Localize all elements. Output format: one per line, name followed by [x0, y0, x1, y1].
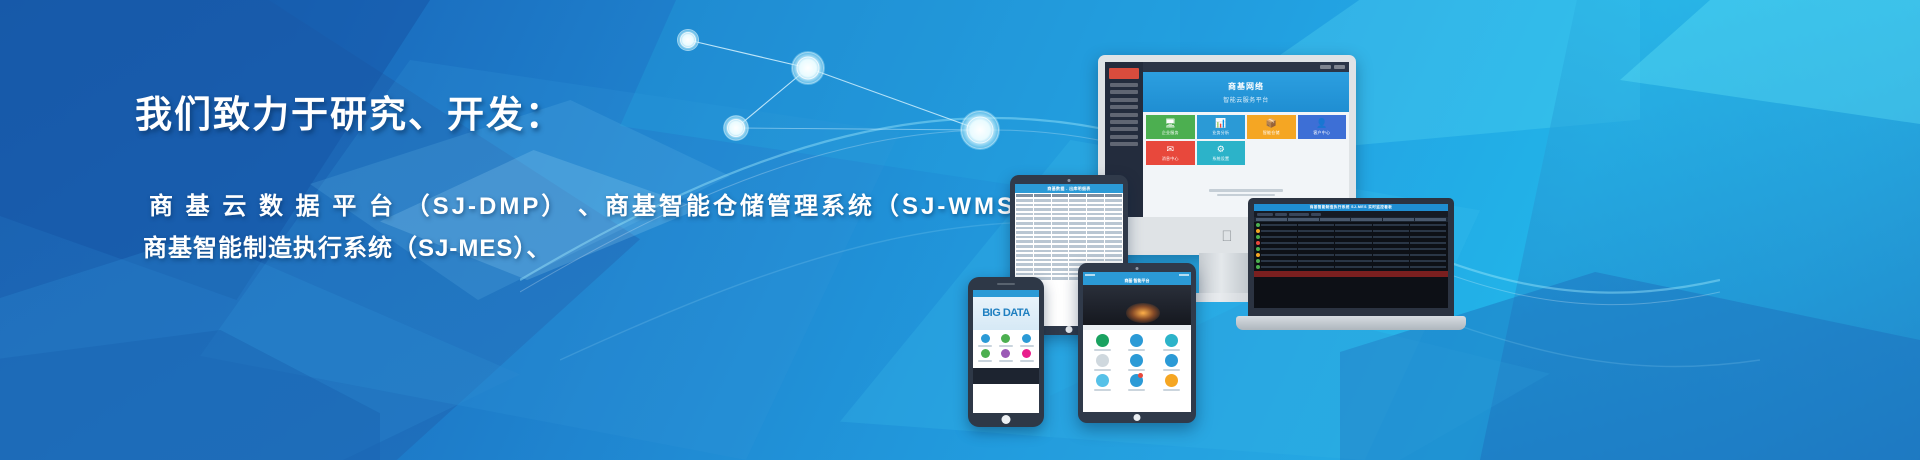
- tablet-app[interactable]: [1121, 354, 1152, 371]
- toolbar-chip[interactable]: [1289, 213, 1309, 216]
- app-icon: [1130, 334, 1143, 347]
- app-icon: [1022, 334, 1031, 343]
- status-dot: [1256, 259, 1260, 263]
- app-hero-title: 商基网络: [1228, 81, 1264, 92]
- laptop: 商基智能制造执行系统 SJ-MES 实时监控看板: [1248, 198, 1454, 330]
- device-mockup-cluster: 商基网络 智能云服务平台 🖥企业服务 📊业务分析 📦智能仓储 👤客户中心 ✉消息…: [1010, 55, 1510, 355]
- body-line-2: 商基智能制造执行系统（SJ-MES）、: [135, 228, 955, 270]
- laptop-screen: 商基智能制造执行系统 SJ-MES 实时监控看板: [1248, 198, 1454, 316]
- banner-copy: 我们致力于研究、开发： 商 基 云 数 据 平 台 （SJ-DMP） 、商基智能…: [135, 84, 955, 270]
- app-tile[interactable]: 📊业务分析: [1197, 115, 1246, 139]
- phone-screen: BIG DATA: [973, 290, 1039, 413]
- app-tile[interactable]: ✉消息中心: [1146, 141, 1195, 165]
- chart-icon: 📊: [1215, 119, 1226, 128]
- tablet-title: 商基数据 - 出库明细表: [1047, 186, 1090, 192]
- app-tile-label: 智能仓储: [1263, 130, 1280, 136]
- hero-banner: 我们致力于研究、开发： 商 基 云 数 据 平 台 （SJ-DMP） 、商基智能…: [0, 0, 1920, 460]
- sidebar-item[interactable]: [1110, 83, 1138, 87]
- app-tile[interactable]: 👤客户中心: [1298, 115, 1347, 139]
- network-node: [791, 51, 825, 85]
- body-line-1: 商 基 云 数 据 平 台 （SJ-DMP） 、商基智能仓储管理系统（SJ-WM…: [135, 186, 955, 228]
- phone-brand: BIG DATA: [982, 309, 1030, 318]
- notification-badge: [1138, 373, 1143, 378]
- app-logo-icon: [1109, 68, 1139, 79]
- app-footer-line: [1209, 189, 1283, 192]
- app-hero: 商基网络 智能云服务平台: [1143, 72, 1349, 112]
- app-icon: [1001, 334, 1010, 343]
- tablet-titlebar: 商基数据 - 出库明细表: [1015, 184, 1123, 193]
- app-tile-label: 业务分析: [1212, 130, 1229, 136]
- hero-glow: [1126, 303, 1160, 323]
- banner-body: 商 基 云 数 据 平 台 （SJ-DMP） 、商基智能仓储管理系统（SJ-WM…: [135, 186, 955, 270]
- tablet-front: 商基 智能平台: [1078, 263, 1196, 423]
- status-dot: [1256, 229, 1260, 233]
- laptop-status-bar: [1254, 271, 1448, 277]
- tablet-app[interactable]: [1087, 354, 1118, 371]
- app-tile-label: 系统设置: [1212, 156, 1229, 162]
- tablet-app-grid: [1083, 330, 1191, 395]
- tablet-titlebar: 商基 智能平台: [1083, 277, 1191, 285]
- page-title: 我们致力于研究、开发：: [135, 84, 955, 138]
- status-dot: [1256, 253, 1260, 257]
- imac-stand: [1199, 253, 1255, 295]
- status-dot: [1256, 235, 1260, 239]
- phone-app-grid: [973, 330, 1039, 366]
- camera-icon: [1136, 267, 1139, 270]
- smartphone: BIG DATA: [968, 277, 1044, 427]
- phone-app[interactable]: [976, 334, 995, 347]
- phone-app[interactable]: [997, 349, 1016, 362]
- sidebar-item[interactable]: [1110, 98, 1138, 102]
- sidebar-item[interactable]: [1110, 135, 1138, 139]
- status-dot: [1256, 247, 1260, 251]
- tablet-home-button[interactable]: [1134, 414, 1141, 421]
- app-icon: [1165, 334, 1178, 347]
- app-tile-grid: 🖥企业服务 📊业务分析 📦智能仓储 👤客户中心 ✉消息中心 ⚙系统设置: [1143, 112, 1349, 168]
- app-icon: [981, 334, 990, 343]
- camera-icon: [1068, 179, 1071, 182]
- app-footer-line: [1217, 194, 1275, 197]
- sidebar-item[interactable]: [1110, 142, 1138, 146]
- app-icon: [1022, 349, 1031, 358]
- tablet-app[interactable]: [1156, 374, 1187, 391]
- tablet-hero-image: [1083, 285, 1191, 325]
- app-tile-label: 客户中心: [1313, 130, 1330, 136]
- app-icon: [1165, 374, 1178, 387]
- tablet-front-screen: 商基 智能平台: [1083, 272, 1191, 412]
- gear-icon: ⚙: [1217, 145, 1225, 154]
- app-tile[interactable]: ⚙系统设置: [1197, 141, 1246, 165]
- app-icon: [981, 349, 990, 358]
- status-dot: [1256, 241, 1260, 245]
- phone-hero: BIG DATA: [973, 297, 1039, 330]
- topbar-search-icon[interactable]: [1320, 65, 1331, 69]
- sidebar-item[interactable]: [1110, 120, 1138, 124]
- sidebar-item[interactable]: [1110, 127, 1138, 131]
- phone-statusbar: [973, 290, 1039, 297]
- laptop-titlebar: 商基智能制造执行系统 SJ-MES 实时监控看板: [1254, 204, 1448, 211]
- background-facet: [0, 330, 380, 460]
- app-tile[interactable]: 📦智能仓储: [1247, 115, 1296, 139]
- network-node: [959, 109, 1001, 151]
- user-icon: 👤: [1316, 119, 1327, 128]
- sidebar-item[interactable]: [1110, 113, 1138, 117]
- apple-logo-icon: : [1221, 228, 1232, 245]
- tablet-app[interactable]: [1156, 354, 1187, 371]
- phone-app[interactable]: [976, 349, 995, 362]
- app-icon: [1096, 374, 1109, 387]
- mail-icon: ✉: [1166, 145, 1174, 154]
- toolbar-chip[interactable]: [1275, 213, 1287, 216]
- phone-app[interactable]: [997, 334, 1016, 347]
- phone-app[interactable]: [1017, 349, 1036, 362]
- tablet-home-button[interactable]: [1066, 326, 1073, 333]
- laptop-app: 商基智能制造执行系统 SJ-MES 实时监控看板: [1254, 204, 1448, 308]
- tablet-app[interactable]: [1121, 334, 1152, 351]
- app-icon: [1001, 349, 1010, 358]
- app-hero-subtitle: 智能云服务平台: [1223, 95, 1269, 104]
- app-main: 商基网络 智能云服务平台 🖥企业服务 📊业务分析 📦智能仓储 👤客户中心 ✉消息…: [1143, 62, 1349, 217]
- app-icon: [1130, 354, 1143, 367]
- app-icon: [1096, 354, 1109, 367]
- network-node: [677, 29, 699, 51]
- sidebar-item[interactable]: [1110, 90, 1138, 94]
- status-dot: [1256, 265, 1260, 269]
- laptop-title: 商基智能制造执行系统 SJ-MES 实时监控看板: [1310, 205, 1392, 210]
- tablet-app[interactable]: [1087, 334, 1118, 351]
- app-tile-label: 企业服务: [1162, 130, 1179, 136]
- toolbar-chip[interactable]: [1311, 213, 1321, 216]
- box-icon: 📦: [1266, 119, 1277, 128]
- app-icon: [1096, 334, 1109, 347]
- tablet-app[interactable]: [1087, 374, 1118, 391]
- phone-home-button[interactable]: [1002, 415, 1011, 424]
- monitor-icon: 🖥: [1165, 119, 1176, 128]
- app-tile[interactable]: 🖥企业服务: [1146, 115, 1195, 139]
- phone-footer: [973, 368, 1039, 384]
- app-icon: [1165, 354, 1178, 367]
- phone-app[interactable]: [1017, 334, 1036, 347]
- laptop-base: [1236, 316, 1466, 330]
- toolbar-chip[interactable]: [1257, 213, 1273, 216]
- laptop-table-row: [1254, 264, 1448, 270]
- speaker-grill: [997, 283, 1015, 285]
- tablet-app[interactable]: [1121, 374, 1152, 391]
- status-dot: [1256, 223, 1260, 227]
- tablet-app[interactable]: [1156, 334, 1187, 351]
- tablet-front-title: 商基 智能平台: [1124, 278, 1149, 284]
- app-tile-label: 消息中心: [1162, 156, 1179, 162]
- imac-screen: 商基网络 智能云服务平台 🖥企业服务 📊业务分析 📦智能仓储 👤客户中心 ✉消息…: [1105, 62, 1349, 217]
- topbar-user-icon[interactable]: [1334, 65, 1345, 69]
- app-topbar: [1143, 62, 1349, 72]
- sidebar-item[interactable]: [1110, 105, 1138, 109]
